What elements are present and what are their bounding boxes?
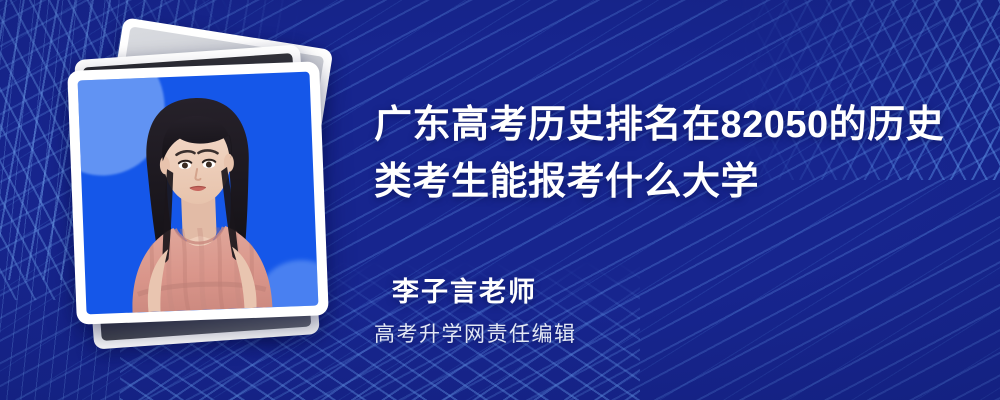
page-title: 广东高考历史排名在82050的历史 类考生能报考什么大学 xyxy=(374,97,976,211)
portrait-card-front xyxy=(67,61,329,324)
author-name: 李子言老师 xyxy=(392,270,537,309)
page-title-line-2: 类考生能报考什么大学 xyxy=(374,154,976,211)
portrait-card-stack xyxy=(48,28,368,368)
article-header-banner: 广东高考历史排名在82050的历史 类考生能报考什么大学 李子言老师 高考升学网… xyxy=(0,0,1000,400)
banner-text-column: 广东高考历史排名在82050的历史 类考生能报考什么大学 李子言老师 高考升学网… xyxy=(374,0,976,400)
page-title-line-1: 广东高考历史排名在82050的历史 xyxy=(374,97,976,154)
author-role: 高考升学网责任编辑 xyxy=(374,318,577,348)
avatar xyxy=(78,72,319,315)
teacher-portrait-illustration xyxy=(78,72,319,315)
